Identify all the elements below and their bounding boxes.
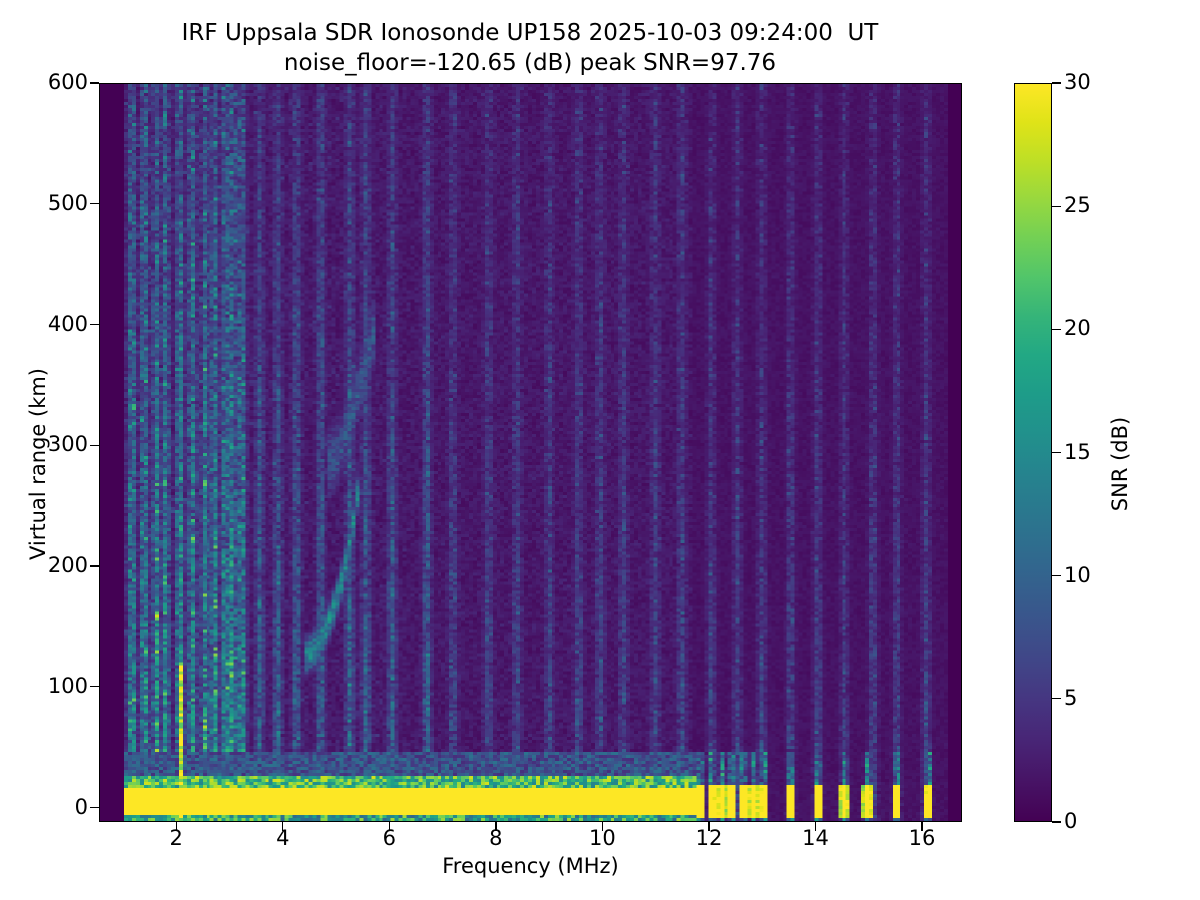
colorbar-tick-label: 20: [1064, 318, 1091, 339]
y-tick-mark: [90, 807, 99, 808]
y-axis-label: Virtual range (km): [26, 324, 50, 604]
y-tick-mark: [90, 565, 99, 566]
x-tick-label: 12: [696, 828, 723, 849]
y-tick-mark: [90, 445, 99, 446]
colorbar: [1014, 83, 1052, 822]
y-tick-label: 600: [48, 72, 88, 93]
colorbar-tick-mark: [1052, 821, 1061, 822]
ionogram-heatmap-canvas: [100, 84, 961, 821]
y-tick-label: 500: [48, 193, 88, 214]
colorbar-tick-mark: [1052, 698, 1061, 699]
ionogram-figure: IRF Uppsala SDR Ionosonde UP158 2025-10-…: [0, 0, 1200, 900]
colorbar-tick-mark: [1052, 329, 1061, 330]
colorbar-tick-label: 0: [1064, 811, 1077, 832]
y-tick-label: 200: [48, 555, 88, 576]
x-tick-label: 16: [909, 828, 936, 849]
x-tick-label: 10: [589, 828, 616, 849]
figure-title-line-1: IRF Uppsala SDR Ionosonde UP158 2025-10-…: [0, 18, 1060, 48]
x-tick-label: 6: [383, 828, 396, 849]
colorbar-tick-mark: [1052, 452, 1061, 453]
colorbar-tick-label: 25: [1064, 195, 1091, 216]
y-tick-mark: [90, 82, 99, 83]
colorbar-tick-label: 5: [1064, 688, 1077, 709]
y-tick-mark: [90, 203, 99, 204]
x-tick-label: 14: [802, 828, 829, 849]
colorbar-tick-mark: [1052, 575, 1061, 576]
colorbar-tick-label: 10: [1064, 565, 1091, 586]
y-tick-label: 400: [48, 314, 88, 335]
y-tick-label: 300: [48, 434, 88, 455]
colorbar-tick-mark: [1052, 206, 1061, 207]
y-tick-mark: [90, 686, 99, 687]
x-tick-label: 2: [170, 828, 183, 849]
colorbar-tick-label: 15: [1064, 442, 1091, 463]
figure-subtitle-line-2: noise_floor=-120.65 (dB) peak SNR=97.76: [0, 48, 1060, 78]
y-tick-mark: [90, 324, 99, 325]
x-tick-label: 4: [276, 828, 289, 849]
y-tick-label: 0: [75, 797, 88, 818]
colorbar-tick-mark: [1052, 82, 1061, 83]
x-tick-label: 8: [489, 828, 502, 849]
colorbar-label: SNR (dB): [1108, 344, 1132, 584]
ionogram-plot-area: [99, 83, 962, 822]
colorbar-gradient: [1015, 84, 1051, 821]
colorbar-tick-label: 30: [1064, 72, 1091, 93]
y-tick-label: 100: [48, 676, 88, 697]
x-axis-label: Frequency (MHz): [99, 854, 962, 878]
